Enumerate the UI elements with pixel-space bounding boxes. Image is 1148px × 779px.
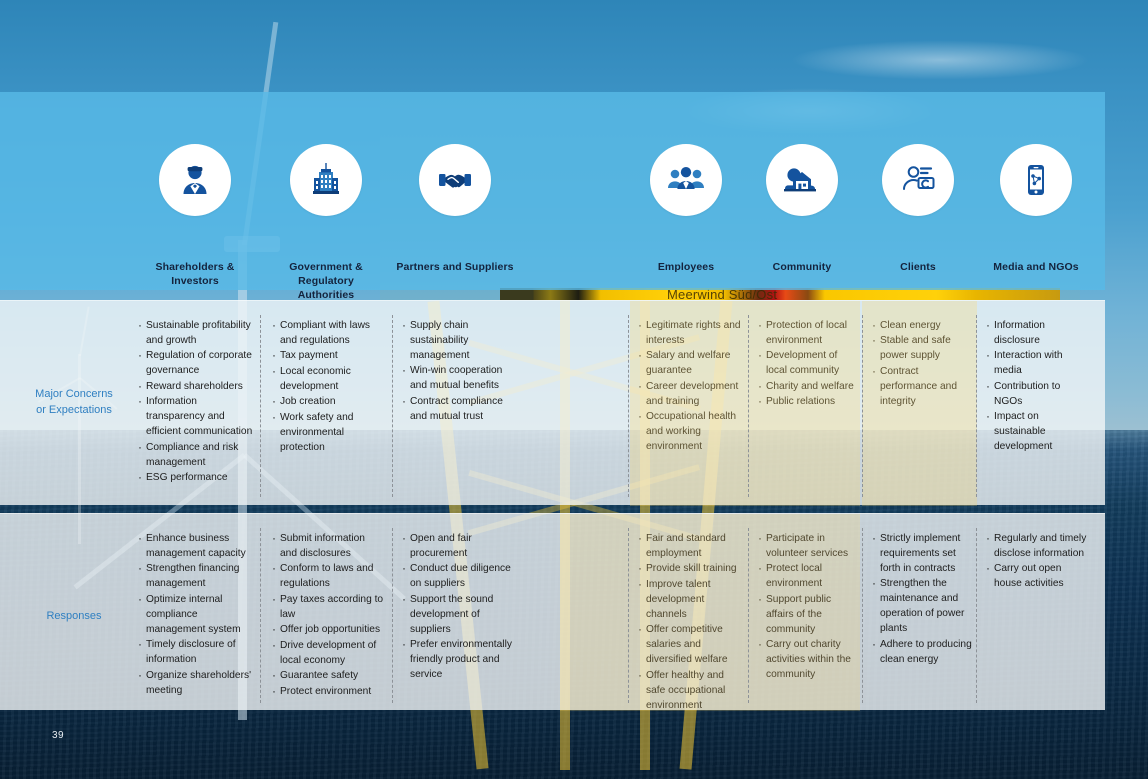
house-community-icon (781, 160, 823, 200)
list-item: Provide skill training (638, 562, 742, 577)
list-item: Offer healthy and safe occupational envi… (638, 669, 742, 714)
icon-circle (290, 144, 362, 216)
responses-list: Submit information and disclosuresConfor… (272, 532, 384, 700)
list-item: Timely disclosure of information (138, 638, 256, 668)
list-item: Protection of local environment (758, 319, 858, 349)
responses-column-employees: Fair and standard employmentProvide skil… (638, 532, 742, 714)
list-item: Information disclosure (986, 319, 1090, 349)
icon-circle (159, 144, 231, 216)
column-divider (392, 528, 393, 703)
page-number: 39 (52, 730, 64, 741)
concerns-column-employees: Legitimate rights and interestsSalary an… (638, 319, 742, 456)
list-item: Work safety and environmental protection (272, 411, 386, 456)
concerns-list: Legitimate rights and interestsSalary an… (638, 319, 742, 455)
list-item: Strictly implement requirements set fort… (872, 532, 972, 577)
list-item: ESG performance (138, 471, 254, 486)
list-item: Protect local environment (758, 562, 858, 592)
row-label-responses: Responses (14, 609, 134, 625)
stakeholder-label: Shareholders & Investors (134, 260, 256, 288)
list-item: Conform to laws and regulations (272, 562, 384, 592)
list-item: Regularly and timely disclose informatio… (986, 532, 1090, 562)
businessperson-icon (175, 160, 215, 200)
list-item: Job creation (272, 395, 386, 410)
responses-column-clients: Strictly implement requirements set fort… (872, 532, 972, 668)
list-item: Win-win cooperation and mutual benefits (402, 364, 522, 394)
list-item: Supply chain sustainability management (402, 319, 522, 364)
list-item: Reward shareholders (138, 380, 254, 395)
responses-list: Participate in volunteer servicesProtect… (758, 532, 858, 683)
column-divider (976, 315, 977, 497)
concerns-list: Protection of local environmentDevelopme… (758, 319, 858, 410)
list-item: Contract compliance and mutual trust (402, 395, 522, 425)
concerns-column-clients: Clean energyStable and safe power supply… (872, 319, 972, 410)
responses-panel: Responses Enhance business management ca… (0, 513, 1105, 710)
stakeholder-label: Employees (628, 260, 744, 274)
list-item: Improve talent development channels (638, 578, 742, 623)
list-item: Adhere to producing clean energy (872, 638, 972, 668)
responses-list: Enhance business management capacityStre… (138, 532, 256, 699)
list-item: Open and fair procurement (402, 532, 522, 562)
list-item: Legitimate rights and interests (638, 319, 742, 349)
concerns-column-media-ngos: Information disclosureInteraction with m… (986, 319, 1090, 456)
responses-column-shareholders: Enhance business management capacityStre… (138, 532, 256, 699)
concerns-column-community: Protection of local environmentDevelopme… (758, 319, 858, 411)
list-item: Impact on sustainable development (986, 410, 1090, 455)
column-divider (862, 528, 863, 703)
stakeholder-media-ngos[interactable]: Media and NGOs (976, 144, 1096, 274)
column-divider (260, 528, 261, 703)
concerns-list: Compliant with laws and regulationsTax p… (272, 319, 386, 456)
stakeholder-partners-suppliers[interactable]: Partners and Suppliers (394, 144, 516, 274)
people-group-icon (665, 160, 707, 200)
government-building-icon (306, 160, 346, 200)
stakeholder-clients[interactable]: Clients (862, 144, 974, 274)
list-item: Salary and welfare guarantee (638, 349, 742, 379)
stakeholder-community[interactable]: Community (744, 144, 860, 274)
stakeholder-label: Government & Regulatory Authorities (268, 260, 384, 303)
icon-circle (419, 144, 491, 216)
list-item: Organize shareholders' meeting (138, 669, 256, 699)
concerns-list: Sustainable profitability and growthRegu… (138, 319, 254, 486)
list-item: Prefer environmentally friendly product … (402, 638, 522, 683)
column-divider (260, 315, 261, 497)
responses-list: Strictly implement requirements set fort… (872, 532, 972, 668)
icon-circle (882, 144, 954, 216)
concerns-column-shareholders: Sustainable profitability and growthRegu… (138, 319, 254, 487)
handshake-icon (435, 160, 475, 200)
list-item: Public relations (758, 395, 858, 410)
list-item: Compliant with laws and regulations (272, 319, 386, 349)
stakeholder-icon-row: Shareholders & Investors (0, 92, 1105, 290)
column-divider (628, 315, 629, 497)
list-item: Stable and safe power supply (872, 334, 972, 364)
list-item: Guarantee safety (272, 669, 384, 684)
list-item: Tax payment (272, 349, 386, 364)
stakeholder-label: Clients (862, 260, 974, 274)
list-item: Enhance business management capacity (138, 532, 256, 562)
column-divider (976, 528, 977, 703)
list-item: Support the sound development of supplie… (402, 593, 522, 638)
list-item: Charity and welfare (758, 380, 858, 395)
concerns-list: Information disclosureInteraction with m… (986, 319, 1090, 455)
list-item: Information transparency and efficient c… (138, 395, 254, 440)
list-item: Support public affairs of the community (758, 593, 858, 638)
list-item: Career development and training (638, 380, 742, 410)
stakeholder-employees[interactable]: Employees (628, 144, 744, 274)
icon-circle (766, 144, 838, 216)
responses-column-partners: Open and fair procurementConduct due dil… (402, 532, 522, 684)
concerns-list: Supply chain sustainability managementWi… (402, 319, 522, 425)
stakeholders-header-band: Shareholders & Investors (0, 92, 1105, 290)
list-item: Conduct due diligence on suppliers (402, 562, 522, 592)
major-concerns-panel: Major Concerns or Expectations Sustainab… (0, 300, 1105, 505)
list-item: Local economic development (272, 365, 386, 395)
list-item: Pay taxes according to law (272, 593, 384, 623)
list-item: Strengthen the maintenance and operation… (872, 577, 972, 637)
stakeholder-label: Partners and Suppliers (394, 260, 516, 274)
concerns-column-government: Compliant with laws and regulationsTax p… (272, 319, 386, 456)
list-item: Optimize internal compliance management … (138, 593, 256, 638)
concerns-column-partners: Supply chain sustainability managementWi… (402, 319, 522, 425)
column-divider (628, 528, 629, 703)
stakeholder-label: Media and NGOs (976, 260, 1096, 274)
list-item: Regulation of corporate governance (138, 349, 254, 379)
row-label-major-concerns: Major Concerns or Expectations (14, 387, 134, 419)
list-item: Participate in volunteer services (758, 532, 858, 562)
concerns-list: Clean energyStable and safe power supply… (872, 319, 972, 410)
list-item: Carry out open house activities (986, 562, 1090, 592)
column-divider (748, 528, 749, 703)
responses-list: Fair and standard employmentProvide skil… (638, 532, 742, 714)
stakeholder-shareholders-investors[interactable]: Shareholders & Investors (134, 144, 256, 288)
icon-circle (1000, 144, 1072, 216)
list-item: Drive development of local economy (272, 639, 384, 669)
column-divider (392, 315, 393, 497)
list-item: Clean energy (872, 319, 972, 334)
responses-list: Open and fair procurementConduct due dil… (402, 532, 522, 683)
list-item: Offer competitive salaries and diversifi… (638, 623, 742, 668)
list-item: Interaction with media (986, 349, 1090, 379)
icon-circle (650, 144, 722, 216)
list-item: Occupational health and working environm… (638, 410, 742, 455)
responses-list: Regularly and timely disclose informatio… (986, 532, 1090, 592)
list-item: Carry out charity activities within the … (758, 638, 858, 683)
stakeholder-label: Community (744, 260, 860, 274)
mobile-share-icon (1016, 160, 1056, 200)
column-divider (748, 315, 749, 497)
list-item: Contribution to NGOs (986, 380, 1090, 410)
column-divider (862, 315, 863, 497)
responses-column-government: Submit information and disclosuresConfor… (272, 532, 384, 700)
list-item: Sustainable profitability and growth (138, 319, 254, 349)
list-item: Fair and standard employment (638, 532, 742, 562)
cloud-shape (790, 40, 1090, 80)
stakeholder-government-regulatory-authorities[interactable]: Government & Regulatory Authorities (268, 144, 384, 303)
list-item: Protect environment (272, 685, 384, 700)
list-item: Submit information and disclosures (272, 532, 384, 562)
list-item: Compliance and risk management (138, 441, 254, 471)
client-card-icon (898, 160, 938, 200)
responses-column-media-ngos: Regularly and timely disclose informatio… (986, 532, 1090, 593)
responses-column-community: Participate in volunteer servicesProtect… (758, 532, 858, 684)
list-item: Strengthen financing management (138, 562, 256, 592)
list-item: Development of local community (758, 349, 858, 379)
list-item: Contract performance and integrity (872, 365, 972, 410)
list-item: Offer job opportunities (272, 623, 384, 638)
